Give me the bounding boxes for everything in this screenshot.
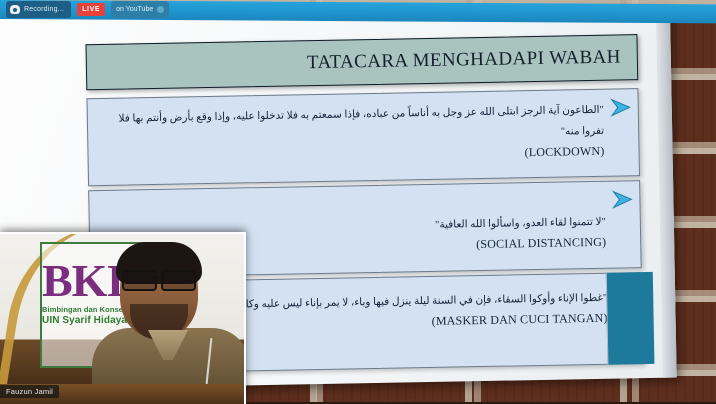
participant-video-tile[interactable]: BKI Bimbingan dan Konseling Islam UIN Sy… xyxy=(0,232,246,404)
eyeglass-lens-right xyxy=(161,270,196,291)
hadith-latin-1: (LOCKDOWN) xyxy=(524,144,604,159)
recording-camera-icon xyxy=(10,5,20,14)
meeting-top-bar-controls: Recording... LIVE on YouTube xyxy=(0,0,716,19)
youtube-stream-indicator[interactable]: on YouTube xyxy=(111,1,169,18)
hadith-latin-3: (MASKER DAN CUCI TANGAN) xyxy=(432,311,608,328)
arrow-bullet-icon xyxy=(611,189,633,209)
participant-name-label: Fauzun Jamil xyxy=(0,385,59,398)
hadith-latin-2: (SOCIAL DISTANCING) xyxy=(476,235,606,251)
slide-point-text-1: "الطاعون آية الرجز ابتلى الله عز وجل به … xyxy=(98,100,605,169)
live-badge: LIVE xyxy=(77,3,105,16)
slide-accent-block xyxy=(606,272,655,365)
chevron-down-icon[interactable] xyxy=(157,6,164,13)
arrow-bullet-icon xyxy=(610,97,632,117)
participant-figure xyxy=(96,242,246,404)
eyeglasses-icon xyxy=(122,270,196,287)
page-title: TATACARA MENGHADAPI WABAH xyxy=(307,46,621,74)
recording-indicator[interactable]: Recording... xyxy=(6,1,71,18)
recording-label: Recording... xyxy=(24,6,64,13)
hadith-arabic-1: "الطاعون آية الرجز ابتلى الله عز وجل به … xyxy=(98,100,605,151)
slide-point-box-1: "الطاعون آية الرجز ابتلى الله عز وجل به … xyxy=(86,88,640,186)
slide-title-banner: TATACARA MENGHADAPI WABAH xyxy=(85,34,638,90)
youtube-label: on YouTube xyxy=(116,6,153,13)
eyeglass-lens-left xyxy=(122,270,157,291)
